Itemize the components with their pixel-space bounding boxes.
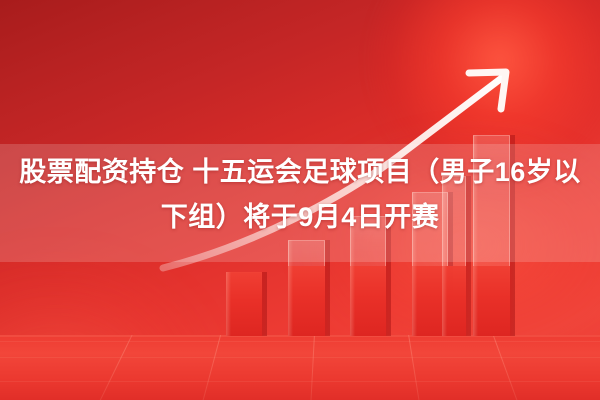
chart-bar [226, 272, 262, 336]
perspective-floor [0, 335, 600, 400]
floor-horizon-line [0, 335, 600, 337]
promo-banner: 股票配资持仓 十五运会足球项目（男子16岁以下组）将于9月4日开赛 [0, 0, 600, 400]
page-title: 股票配资持仓 十五运会足球项目（男子16岁以下组）将于9月4日开赛 [0, 150, 600, 240]
